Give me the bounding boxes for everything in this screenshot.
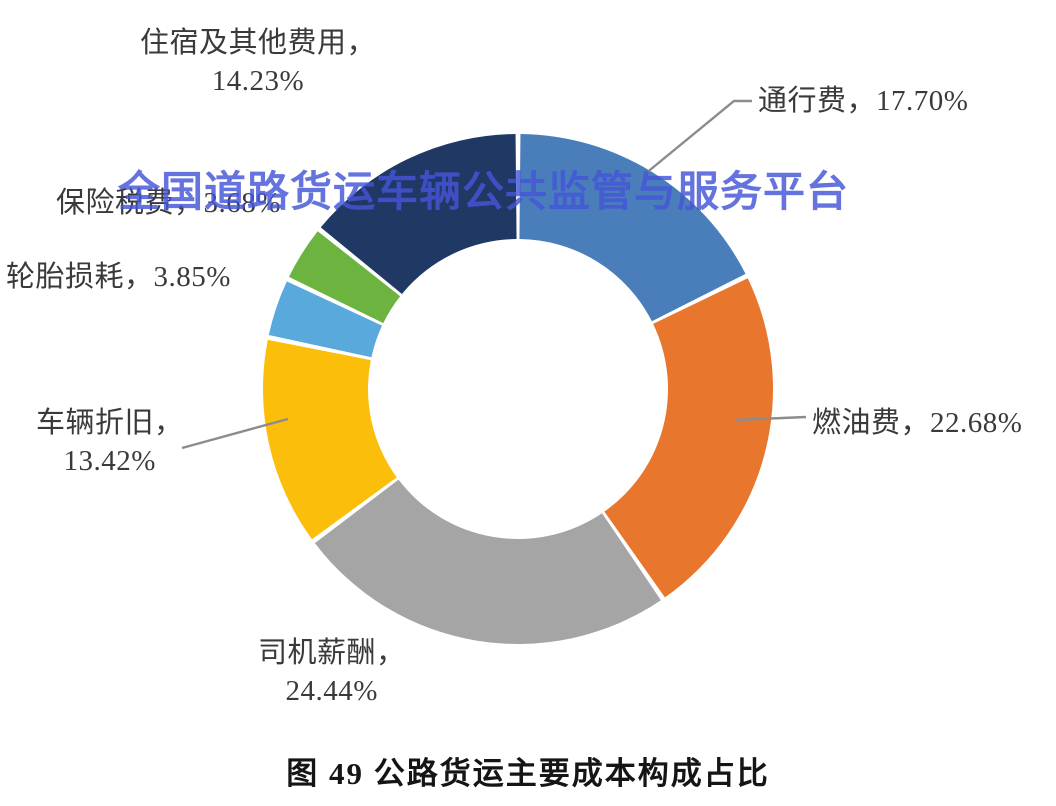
slice-label-3: 司机薪酬， 24.44%: [258, 634, 406, 710]
slice-label-4: 车辆折旧， 13.42%: [36, 404, 184, 480]
figure-caption: 图 49 公路货运主要成本构成占比: [0, 748, 1056, 793]
donut-slice-1[interactable]: [519, 134, 745, 321]
slice-label-6: 保险税费，3.68%: [56, 184, 281, 222]
donut-slice-2[interactable]: [604, 278, 773, 597]
slice-label-2: 燃油费，22.68%: [812, 404, 1022, 442]
donut-chart: [0, 0, 1056, 806]
slice-label-1: 通行费，17.70%: [758, 82, 968, 120]
slice-label-5: 轮胎损耗，3.85%: [6, 258, 231, 296]
donut-slices: [263, 134, 773, 644]
slice-label-7: 住宿及其他费用， 14.23%: [140, 24, 376, 100]
donut-slice-3[interactable]: [315, 480, 661, 644]
figure-canvas: 通行费，17.70%燃油费，22.68%司机薪酬， 24.44%车辆折旧， 13…: [0, 0, 1056, 806]
leader-line-1: [645, 101, 752, 174]
